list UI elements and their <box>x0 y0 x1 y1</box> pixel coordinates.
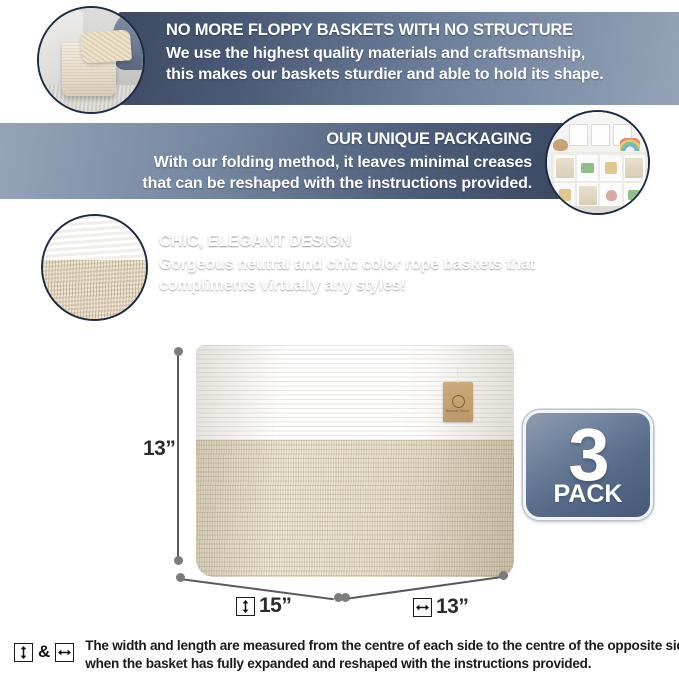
toy <box>628 190 641 200</box>
feature-banner-1: NO MORE FLOPPY BASKETS WITH NO STRUCTURE… <box>118 12 679 105</box>
depth-dimension-dot-right <box>499 571 508 580</box>
feature-2-body-line-1: With our folding method, it leaves minim… <box>14 153 532 174</box>
shelf-cell <box>623 182 646 209</box>
cream-basket-with-knit-throw-photo <box>39 8 143 112</box>
height-dimension-dot-top <box>174 347 183 356</box>
pack-count-badge: 3 PACK <box>523 410 653 520</box>
feature-3-body: Gorgeous neutral and chic color rope bas… <box>159 255 665 297</box>
toy <box>606 190 617 201</box>
feature-banner-2: OUR UNIQUE PACKAGING With our folding me… <box>0 123 580 199</box>
feature-3-title: CHIC, ELEGANT DESIGN <box>159 232 665 250</box>
disclaimer-line-2: when the basket has fully expanded and r… <box>85 655 679 673</box>
storage-bin <box>556 158 574 177</box>
depth-dimension-label: 13” <box>413 595 468 619</box>
hangtag-brand-text: Natural Decor <box>443 409 473 413</box>
rainbow-decor-shape <box>620 138 640 151</box>
disclaimer-line-1: The width and length are measured from t… <box>85 637 679 655</box>
disclaimer-text: The width and length are measured from t… <box>81 637 679 672</box>
nursery-cube-shelf-photo <box>547 112 648 213</box>
shelf-cell <box>623 154 646 181</box>
depth-dimension-value: 13” <box>436 595 468 619</box>
disclaimer-icons: & <box>14 637 74 662</box>
height-dimension-value: 13” <box>143 437 175 461</box>
feature-3-body-line-2: compliments virtually any styles! <box>159 276 665 297</box>
width-dimension-label: 15” <box>236 594 291 618</box>
product-infographic: NO MORE FLOPPY BASKETS WITH NO STRUCTURE… <box>0 0 679 673</box>
frame <box>591 124 610 146</box>
width-dimension-dot-left <box>176 573 185 582</box>
storage-bin <box>579 186 597 205</box>
feature-1-thumbnail <box>37 6 145 114</box>
nursery-floor <box>547 206 648 213</box>
feature-1-body-line-2: this makes our baskets sturdier and able… <box>166 65 665 86</box>
frame <box>569 124 588 146</box>
shelf-cell <box>576 154 599 181</box>
storage-bin <box>625 158 643 177</box>
width-dimension-value: 15” <box>259 594 291 618</box>
feature-1-body: We use the highest quality materials and… <box>166 44 665 86</box>
feature-2-body-line-2: that can be reshaped with the instructio… <box>14 174 532 195</box>
brand-logo-icon <box>452 395 465 408</box>
toy <box>559 189 571 201</box>
pack-count-word: PACK <box>554 482 623 507</box>
horizontal-arrow-icon <box>55 643 74 662</box>
shelf-cell <box>599 182 622 209</box>
shelf-cell <box>553 182 576 209</box>
product-basket-image: Natural Decor <box>196 345 514 577</box>
pack-count-number: 3 <box>568 425 607 486</box>
depth-dimension-dot-left <box>341 593 350 602</box>
shelf-cell <box>576 182 599 209</box>
horizontal-arrow-icon <box>413 598 432 617</box>
knit-throw-shape <box>80 29 132 64</box>
cube-shelf <box>551 152 648 211</box>
product-hangtag: Natural Decor <box>443 382 473 422</box>
height-dimension-label: 13” <box>143 437 175 461</box>
height-dimension-line <box>177 352 179 561</box>
feature-1-body-line-1: We use the highest quality materials and… <box>166 44 665 65</box>
vertical-arrow-icon <box>236 597 255 616</box>
feature-2-body: With our folding method, it leaves minim… <box>14 153 532 195</box>
teddy-bear-shape <box>553 139 568 151</box>
measurement-disclaimer: & The width and length are measured from… <box>14 637 679 672</box>
white-rope-texture <box>43 216 146 260</box>
feature-3-thumbnail <box>41 214 148 321</box>
basket-beige-rope-section <box>196 440 514 577</box>
feature-3-body-line-1: Gorgeous neutral and chic color rope bas… <box>159 255 665 276</box>
shelf-cell <box>553 154 576 181</box>
feature-2-thumbnail <box>545 110 650 215</box>
beige-rope-texture <box>43 260 146 319</box>
height-dimension-dot-bottom <box>174 556 183 565</box>
vertical-arrow-icon <box>14 643 33 662</box>
ampersand-label: & <box>38 642 50 662</box>
feature-2-title: OUR UNIQUE PACKAGING <box>14 130 532 148</box>
toy <box>581 163 594 173</box>
rope-texture-closeup-photo <box>43 216 146 319</box>
feature-banner-3: CHIC, ELEGANT DESIGN Gorgeous neutral an… <box>105 222 679 308</box>
toy <box>605 162 617 174</box>
shelf-cell <box>599 154 622 181</box>
feature-1-title: NO MORE FLOPPY BASKETS WITH NO STRUCTURE <box>166 21 665 39</box>
